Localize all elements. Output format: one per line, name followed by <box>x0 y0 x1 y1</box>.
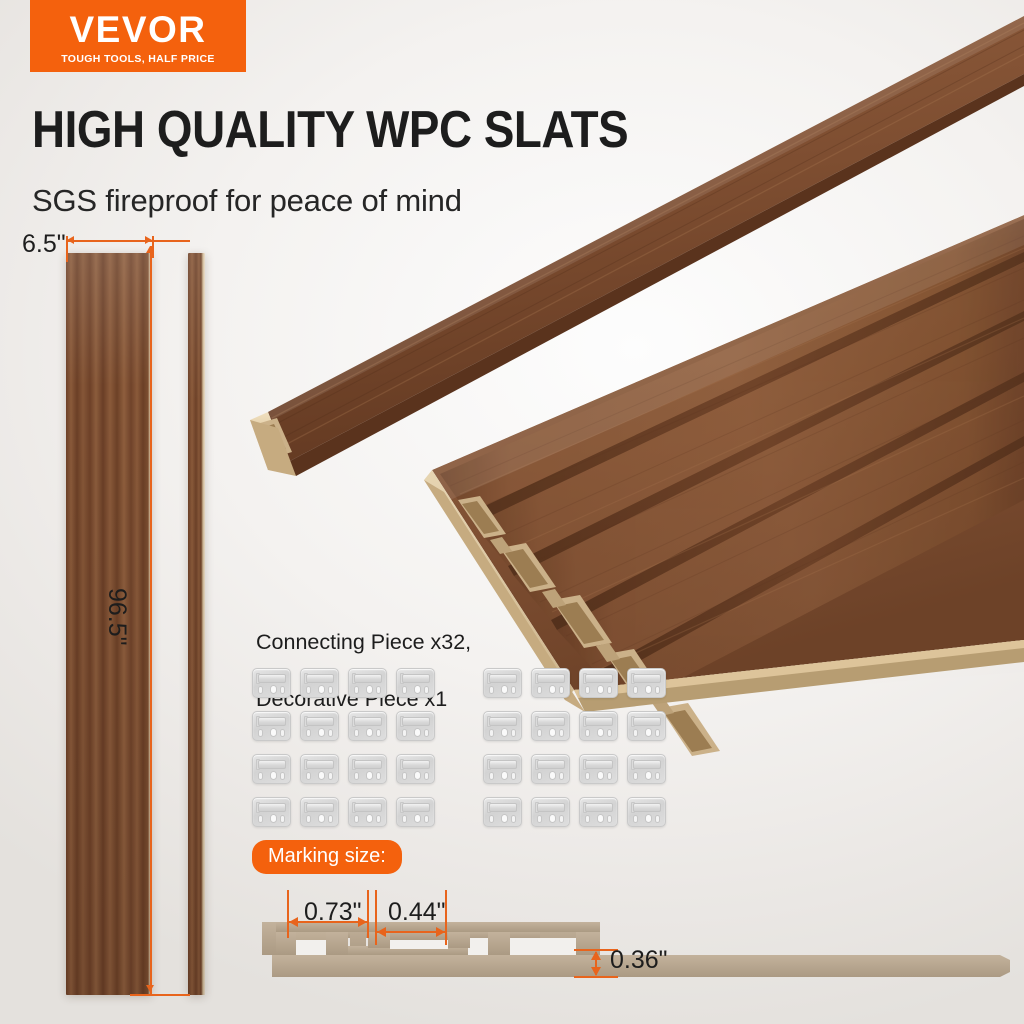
dim-groove-width-label: 0.44" <box>388 898 446 927</box>
product-infographic: VEVOR TOUGH TOOLS, HALF PRICE HIGH QUALI… <box>0 0 1024 1024</box>
dim-rib-width-label: 0.73" <box>304 898 362 927</box>
dim-thickness-label: 0.36" <box>610 946 668 975</box>
cross-section-diagram <box>0 0 1024 1024</box>
